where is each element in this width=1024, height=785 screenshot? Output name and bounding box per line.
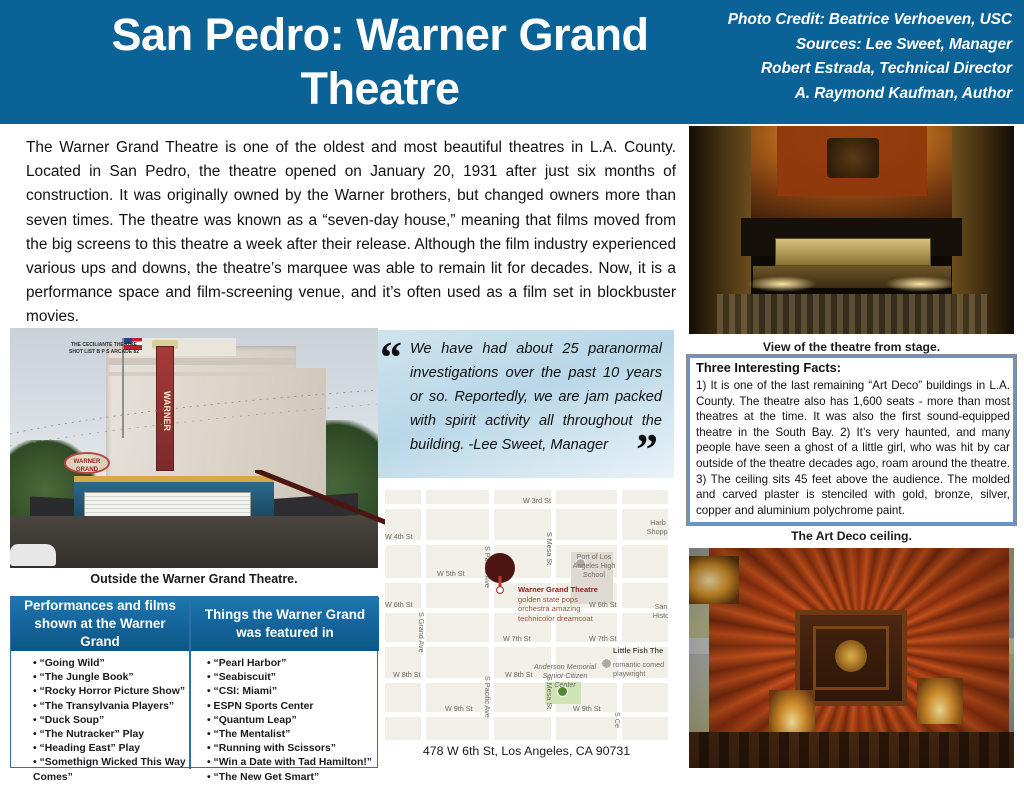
credit-line-author: A. Raymond Kaufman, Author bbox=[592, 82, 1012, 107]
poi-harbor-shopping: Harb Shoppi bbox=[643, 518, 668, 536]
map-label-w5th: W 5th St bbox=[437, 569, 465, 578]
marquee-text-line2: SHOT LIST B P S ARCADE 82 bbox=[24, 349, 184, 356]
table-header-featured-in: Things the Warner Grand was featured in bbox=[191, 597, 379, 651]
map-marker-title: Warner Grand Theatre bbox=[518, 585, 668, 595]
map-marker-sub-1: golden state pops bbox=[518, 595, 668, 605]
parked-car bbox=[10, 544, 56, 566]
list-item: • ESPN Sports Center bbox=[207, 700, 379, 714]
quote-close-icon: ” bbox=[636, 428, 658, 472]
map-label-w9th: W 9th St bbox=[445, 704, 473, 713]
credit-line-sources: Sources: Lee Sweet, Manager bbox=[592, 33, 1012, 58]
interior-ceiling-medallion bbox=[827, 138, 879, 178]
poi-icon-theatre bbox=[601, 658, 612, 669]
list-item: • “Rocky Horror Picture Show” bbox=[33, 685, 189, 699]
map-label-w8th: W 8th St bbox=[393, 670, 421, 679]
list-item: • “Quantum Leap” bbox=[207, 714, 379, 728]
string-lights bbox=[10, 388, 378, 458]
list-item: • “Heading East” Play bbox=[33, 742, 189, 756]
road-w5th bbox=[385, 578, 668, 583]
list-item: • “The Nutracker” Play bbox=[33, 728, 189, 742]
poster-header: San Pedro: Warner Grand Theatre Photo Cr… bbox=[0, 0, 1024, 124]
list-item: • “Pearl Harbor” bbox=[207, 657, 379, 671]
map-pin-icon bbox=[496, 576, 504, 594]
map-label-s-pacific-ave-2: S Pacific Ave bbox=[483, 676, 492, 718]
film-lists-table: Performances and films shown at the Warn… bbox=[10, 596, 378, 768]
map-label-w7th-right: W 7th St bbox=[589, 634, 617, 643]
quote-open-icon: “ bbox=[380, 336, 402, 380]
list-item: • “Somethign Wicked This Way Comes” bbox=[33, 756, 189, 784]
map-label-w4th: W 4th St bbox=[385, 532, 413, 541]
map-label-w9th-right: W 9th St bbox=[573, 704, 601, 713]
exterior-photo: WARNER WARNER GRAND THE CECILIANTE THEAT… bbox=[10, 328, 378, 568]
credit-line-technical-director: Robert Estrada, Technical Director bbox=[592, 57, 1012, 82]
facade-cornice-lower bbox=[106, 372, 296, 376]
list-item: • “CSI: Miami” bbox=[207, 685, 379, 699]
ceiling-vignette bbox=[689, 548, 1014, 768]
map-address-caption: 478 W 6th St, Los Angeles, CA 90731 bbox=[385, 744, 668, 758]
poi-anderson-senior-center: Anderson Memorial Senior Citizen Center bbox=[533, 662, 597, 689]
pull-quote-box: “ We have had about 25 paranormal invest… bbox=[378, 330, 674, 478]
table-header-performances: Performances and films shown at the Warn… bbox=[11, 597, 189, 651]
map-label-s-grand-ave: S Grand Ave bbox=[417, 612, 426, 653]
facade-cornice bbox=[106, 358, 296, 365]
list-item: • “Duck Soup” bbox=[33, 714, 189, 728]
location-map[interactable]: W 3rd St W 4th St W 5th St W 6th St W 7t… bbox=[385, 490, 668, 740]
ceiling-photo bbox=[689, 548, 1014, 768]
interior-projection-booth bbox=[775, 238, 931, 266]
road-w4th bbox=[385, 540, 668, 545]
interior-light-left bbox=[747, 276, 817, 292]
poi-port-of-la-high-school: Port of Los Angeles High School bbox=[563, 552, 625, 579]
map-marker-sub-2: orchestra amazing bbox=[518, 604, 668, 614]
quote-text: We have had about 25 paranormal investig… bbox=[410, 337, 662, 457]
facts-box: Three Interesting Facts: 1) It is one of… bbox=[687, 355, 1016, 525]
facts-body: 1) It is one of the last remaining “Art … bbox=[696, 378, 1010, 518]
table-column-performances: • “Going Wild” • “The Jungle Book” • “Ro… bbox=[33, 657, 189, 785]
facts-title: Three Interesting Facts: bbox=[696, 360, 841, 375]
intro-paragraph: The Warner Grand Theatre is one of the o… bbox=[26, 136, 676, 330]
credit-line-photo: Photo Credit: Beatrice Verhoeven, USC bbox=[592, 8, 1012, 33]
marquee-text-line1: THE CECILIANTE THEATRE bbox=[24, 342, 184, 349]
poi-little-fish-sub: romantic comed playwright bbox=[613, 660, 668, 678]
interior-seating bbox=[717, 294, 987, 334]
map-marker-sub-3: technicolor dreamcoat bbox=[518, 614, 668, 624]
road-w9th bbox=[385, 712, 668, 717]
interior-light-right bbox=[885, 276, 955, 292]
ceiling-photo-caption: The Art Deco ceiling. bbox=[689, 529, 1014, 543]
list-item: • “Seabiscuit” bbox=[207, 671, 379, 685]
list-item: • “The Jungle Book” bbox=[33, 671, 189, 685]
list-item: • “The Transylvania Players” bbox=[33, 700, 189, 714]
list-item: • “The New Get Smart” bbox=[207, 771, 379, 785]
map-label-s-mesa-st: S Mesa St bbox=[545, 532, 554, 565]
list-item: • “Win a Date with Tad Hamilton!” bbox=[207, 756, 379, 770]
map-label-w6th: W 6th St bbox=[385, 600, 413, 609]
list-item: • “Going Wild” bbox=[33, 657, 189, 671]
exterior-photo-caption: Outside the Warner Grand Theatre. bbox=[10, 572, 378, 586]
table-column-featured-in: • “Pearl Harbor” • “Seabiscuit” • “CSI: … bbox=[207, 657, 379, 785]
map-label-w7th: W 7th St bbox=[503, 634, 531, 643]
credits-block: Photo Credit: Beatrice Verhoeven, USC So… bbox=[592, 8, 1012, 106]
marquee-logo: WARNER GRAND bbox=[64, 452, 110, 474]
map-label-s-centre-st: S Ce bbox=[613, 712, 622, 728]
interior-photo bbox=[689, 126, 1014, 334]
storefront-base bbox=[10, 516, 378, 568]
table-column-divider bbox=[189, 597, 191, 769]
poi-little-fish-theatre: Little Fish The bbox=[613, 646, 668, 655]
map-marker-label: Warner Grand Theatre golden state pops o… bbox=[518, 585, 668, 623]
map-label-w3rd: W 3rd St bbox=[523, 496, 551, 505]
map-label-w8th-right: W 8th St bbox=[505, 670, 533, 679]
interior-photo-caption: View of the theatre from stage. bbox=[689, 340, 1014, 354]
list-item: • “The Mentalist” bbox=[207, 728, 379, 742]
list-item: • “Running with Scissors” bbox=[207, 742, 379, 756]
